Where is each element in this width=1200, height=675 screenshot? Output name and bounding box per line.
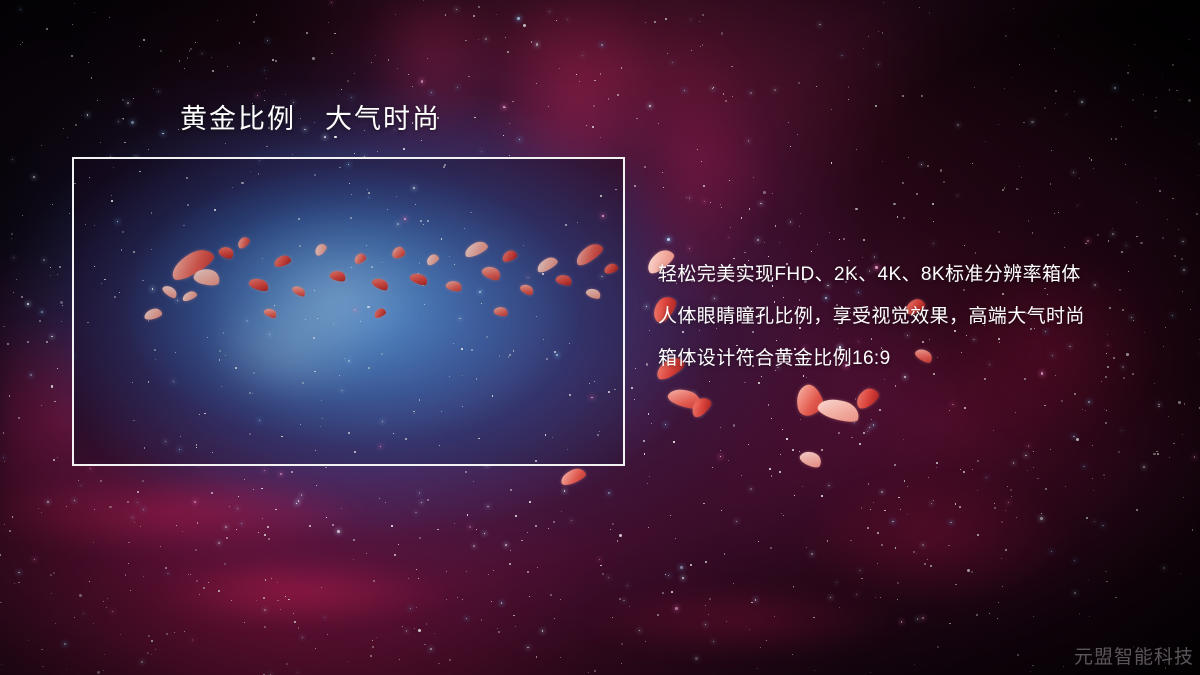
presentation-slide: 黄金比例 大气时尚 轻松完美实现FHD、2K、4K、8K标准分辨率箱体 人体眼睛…: [0, 0, 1200, 675]
body-line-2: 人体眼睛瞳孔比例，享受视觉效果，高端大气时尚: [658, 296, 1178, 338]
slide-body-text: 轻松完美实现FHD、2K、4K、8K标准分辨率箱体 人体眼睛瞳孔比例，享受视觉效…: [658, 254, 1178, 380]
framed-image-content: [74, 159, 623, 464]
framed-product-image[interactable]: [72, 157, 625, 466]
body-line-3: 箱体设计符合黄金比例16:9: [658, 338, 1178, 380]
company-watermark: 元盟智能科技: [1074, 642, 1194, 669]
body-line-1: 轻松完美实现FHD、2K、4K、8K标准分辨率箱体: [658, 254, 1178, 296]
framed-image-shade: [74, 159, 623, 464]
slide-title: 黄金比例 大气时尚: [180, 103, 441, 135]
